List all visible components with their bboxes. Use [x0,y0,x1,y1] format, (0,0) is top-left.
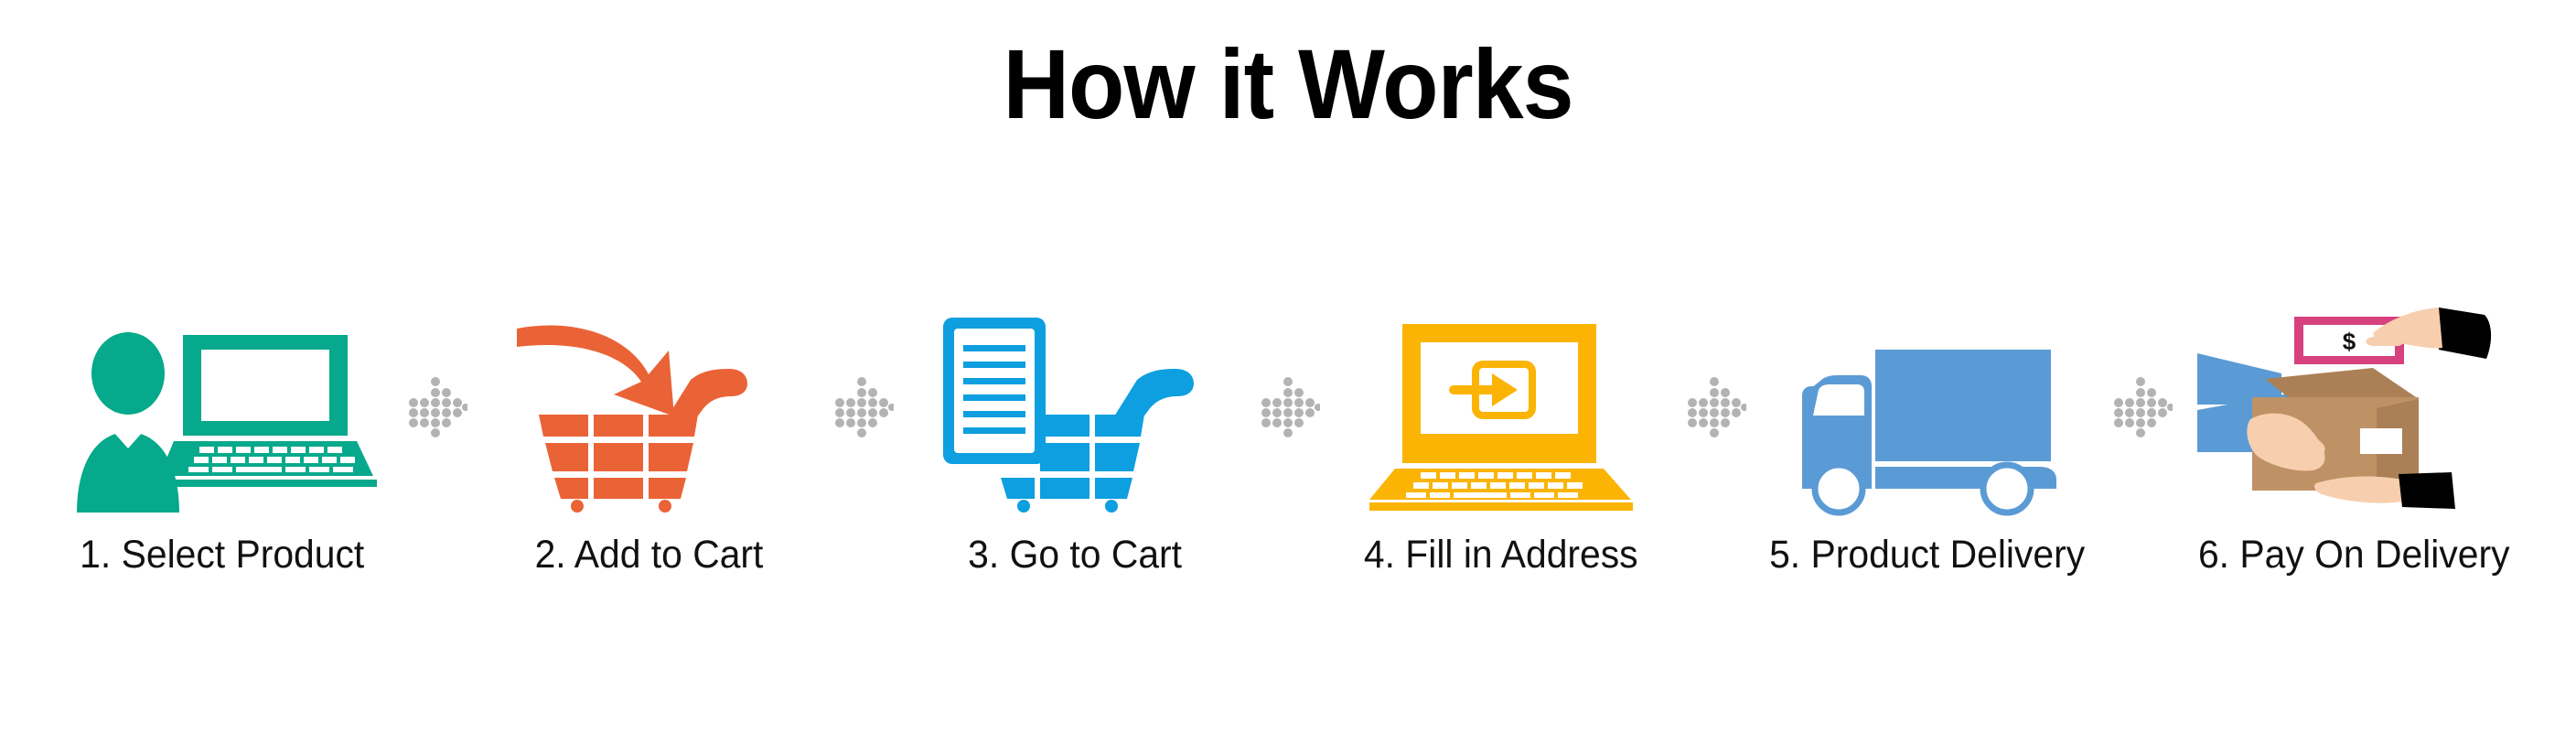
cart-with-down-arrow-icon [478,302,819,513]
step-1-select-product[interactable]: 1. Select Product [52,302,392,578]
step-3-go-to-cart[interactable]: 3. Go to Cart [905,302,1245,578]
step-4-fill-in-address[interactable]: 4. Fill in Address [1331,302,1671,578]
step-6-label: 6. Pay On Delivery [2198,533,2510,578]
person-at-laptop-icon [52,302,392,513]
steps-row: 1. Select Product [0,302,2576,632]
step-5-label: 5. Product Delivery [1769,533,2085,578]
step-2-add-to-cart[interactable]: 2. Add to Cart [478,302,819,578]
step-2-label: 2. Add to Cart [534,533,763,578]
page-header: How it Works [0,0,2576,134]
money-dollar-symbol: $ [2343,328,2356,355]
step-4-label: 4. Fill in Address [1364,533,1638,578]
cash-on-delivery-icon: $ [2184,302,2524,513]
step-3-label: 3. Go to Cart [968,533,1182,578]
page-title: How it Works [1003,35,1572,134]
dotted-arrow-right-icon [392,302,478,513]
dotted-arrow-right-icon [2098,302,2184,513]
laptop-login-icon [1331,302,1671,513]
dotted-arrow-right-icon [1671,302,1757,513]
step-1-label: 1. Select Product [80,533,364,578]
delivery-truck-icon [1757,302,2098,513]
dotted-arrow-right-icon [819,302,905,513]
dotted-arrow-right-icon [1245,302,1331,513]
document-and-cart-icon [905,302,1245,513]
step-6-pay-on-delivery[interactable]: $ [2184,302,2524,578]
step-5-product-delivery[interactable]: 5. Product Delivery [1757,302,2098,578]
